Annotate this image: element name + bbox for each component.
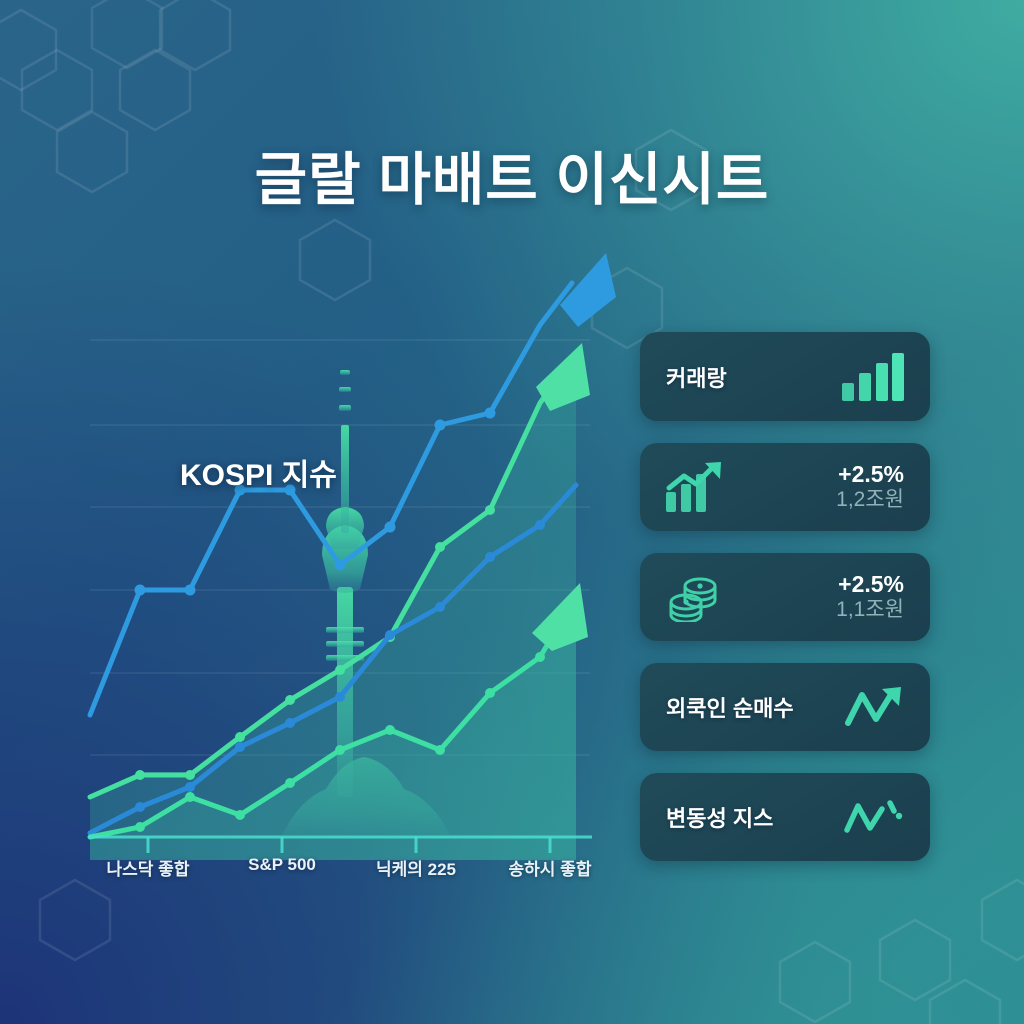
- x-tick-label-1: S&P 500: [248, 855, 316, 875]
- zigzag-arrow-up-icon: [844, 685, 904, 729]
- chart-canvas: [60, 235, 620, 895]
- x-tick-label-2: 닉케의 225: [376, 855, 456, 880]
- poster-root: 글랄 마배트 이신시트: [0, 0, 1024, 1024]
- stat-card-volume-label: 커래랑: [666, 361, 842, 393]
- stat-value-amount: 1,2조원: [724, 488, 904, 512]
- trending-up-icon: [666, 462, 724, 512]
- chart-x-tick-labels: 나스닥 좋합 S&P 500 닉케의 225 송하시 좋합: [60, 855, 620, 895]
- stat-card-foreign-net-buy[interactable]: 외쿡인 순매수: [640, 663, 930, 751]
- stat-card-index-change-1[interactable]: +2.5% 1,2조원: [640, 443, 930, 531]
- stat-card-index-change-2[interactable]: +2.5% 1,1조원: [640, 553, 930, 641]
- stat-value-percent: +2.5%: [724, 572, 904, 598]
- stat-card-list: 커래랑 +2: [640, 332, 930, 883]
- activity-wave-icon: [844, 797, 904, 837]
- stat-value-percent: +2.5%: [724, 462, 904, 488]
- stat-card-volatility[interactable]: 변동성 지스: [640, 773, 930, 861]
- stat-card-volatility-label: 변동성 지스: [666, 801, 844, 833]
- stat-card-index-change-1-values: +2.5% 1,2조원: [724, 462, 904, 511]
- stat-card-index-change-2-values: +2.5% 1,1조원: [724, 572, 904, 621]
- x-tick-label-3: 송하시 좋합: [509, 855, 592, 880]
- x-tick-label-0: 나스닥 좋합: [107, 855, 190, 880]
- stat-card-volume[interactable]: 커래랑: [640, 332, 930, 421]
- coins-stack-icon: [666, 572, 724, 622]
- stat-card-foreign-net-buy-label: 외쿡인 순매수: [666, 691, 844, 723]
- market-line-chart: KOSPI 지슈 나스닥 좋합 S&P 500 닉케의 225 송하시 좋합: [60, 235, 620, 895]
- stat-value-amount: 1,1조원: [724, 598, 904, 622]
- bar-chart-icon: [842, 353, 904, 401]
- page-title: 글랄 마배트 이신시트: [0, 134, 1024, 216]
- kospi-annotation-label: KOSPI 지슈: [180, 450, 440, 494]
